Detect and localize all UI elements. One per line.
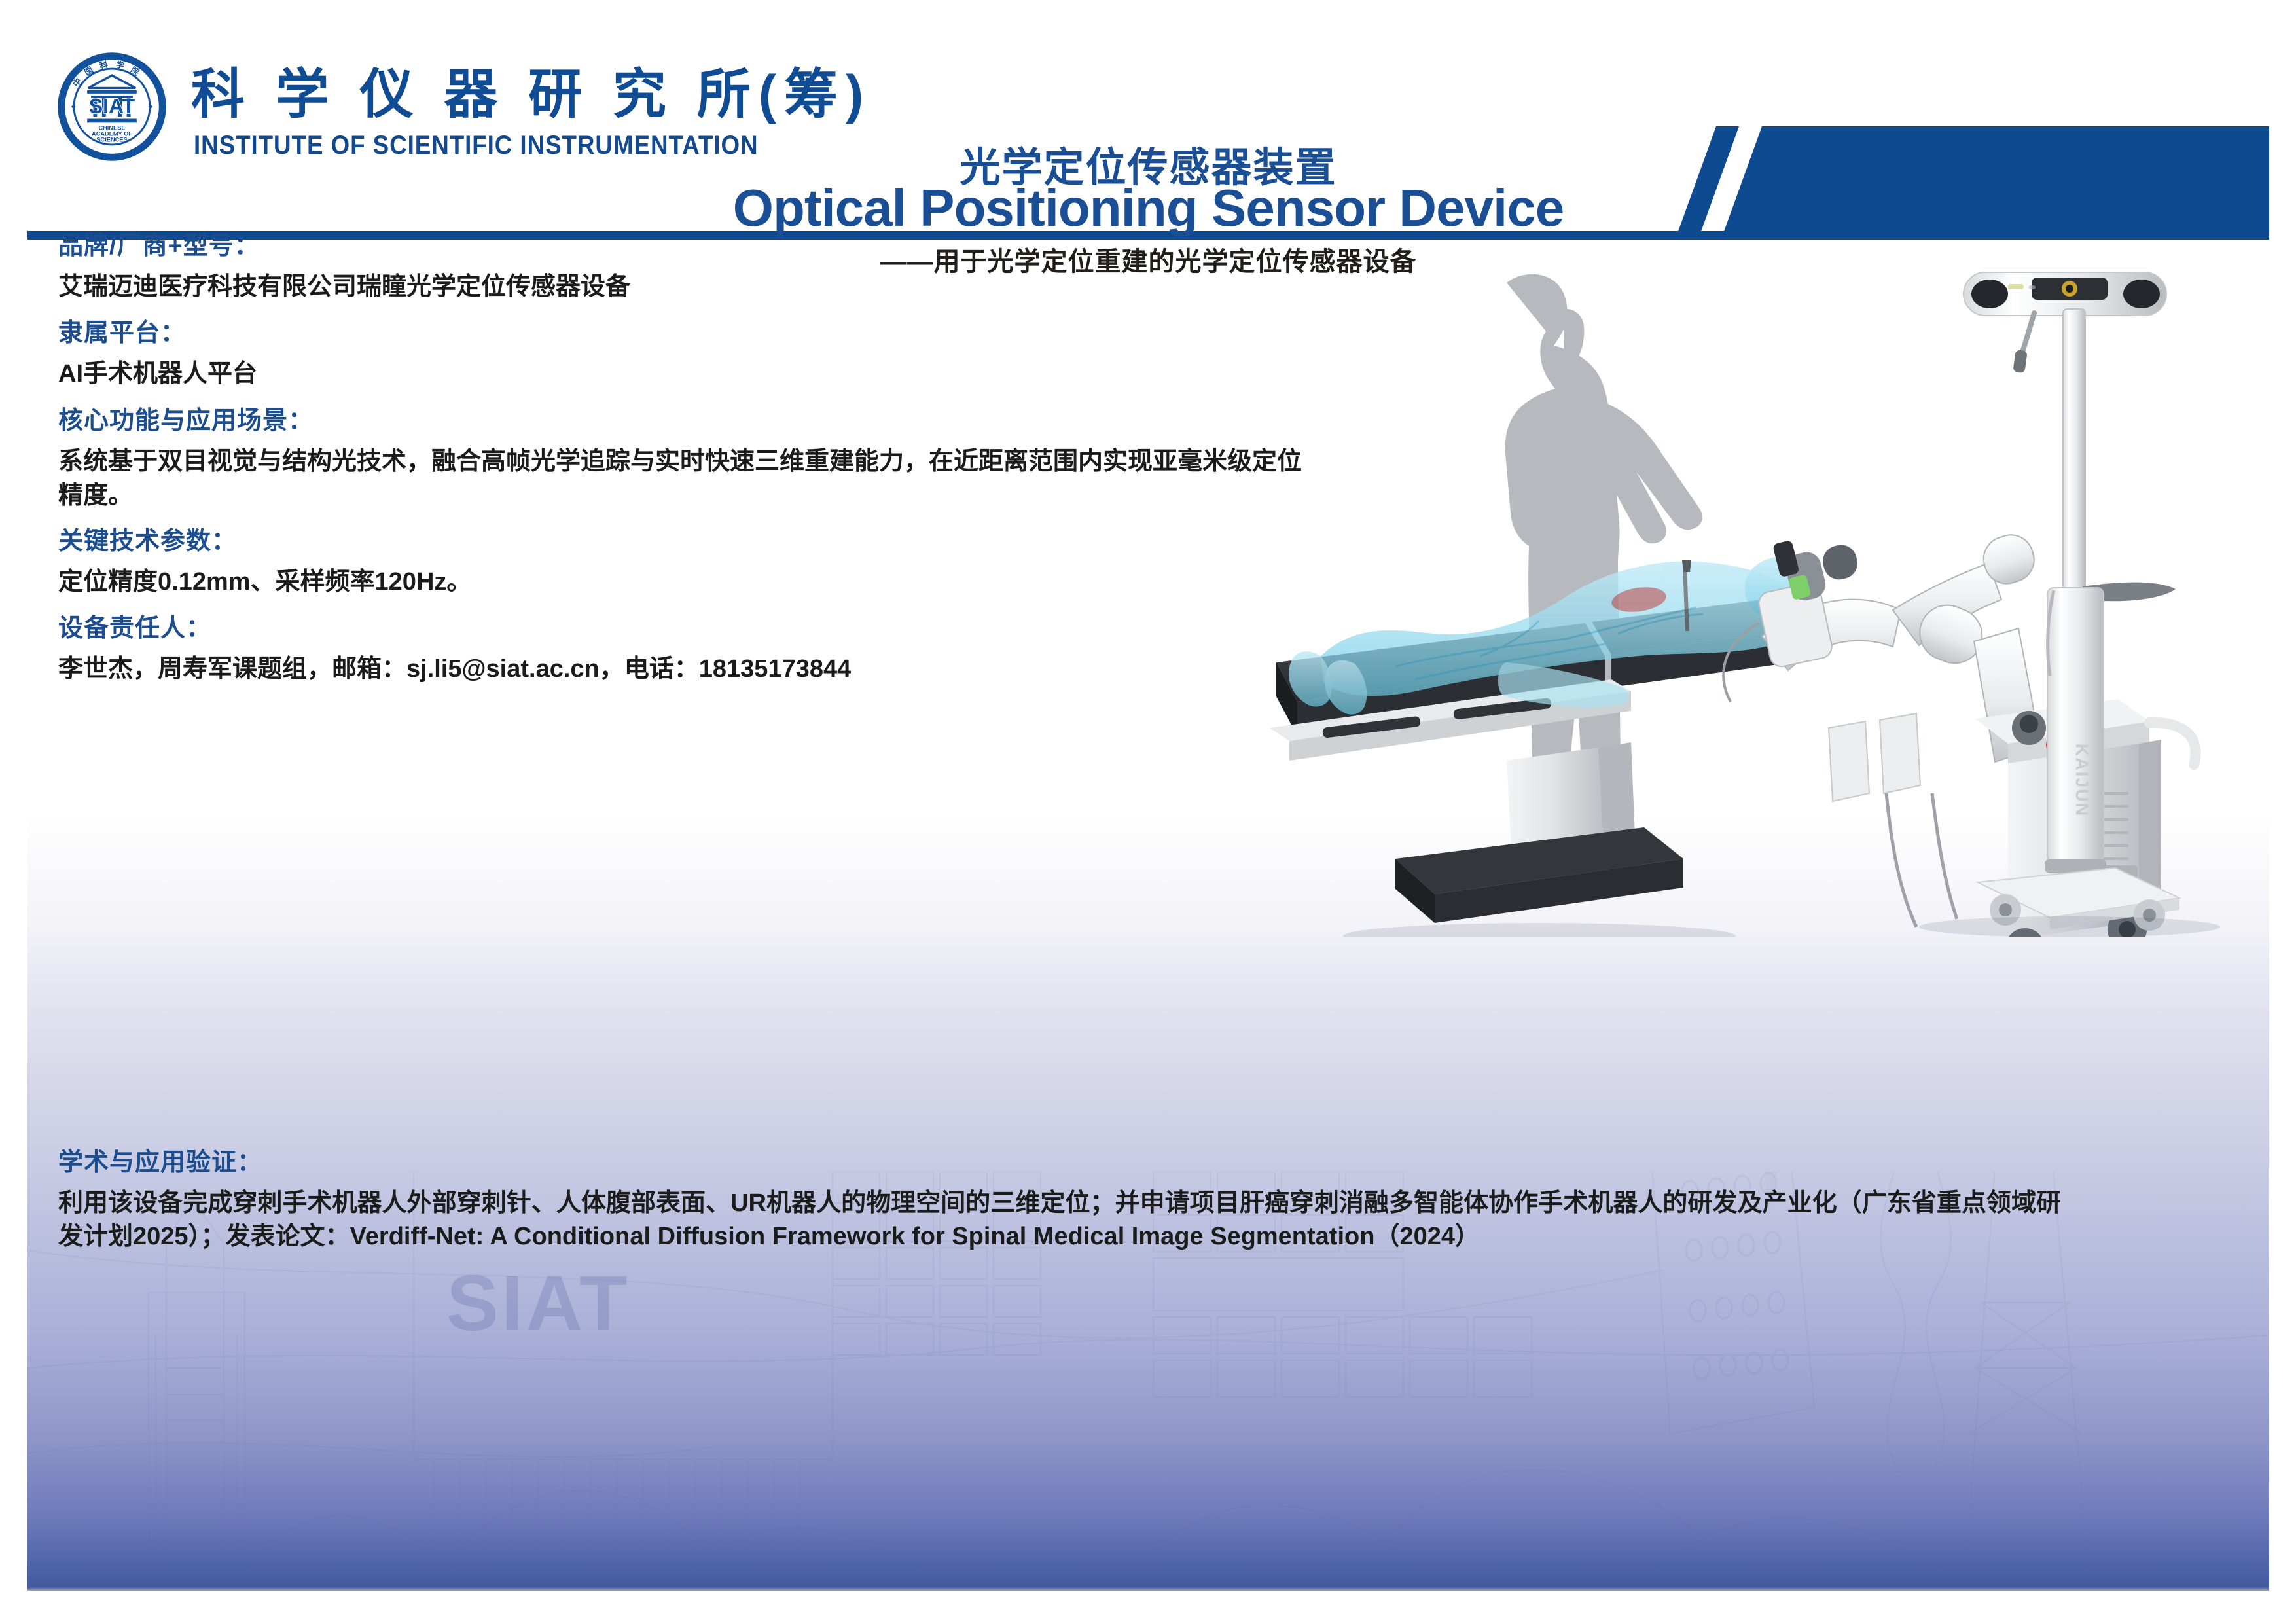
bottom-strip [27, 1587, 2269, 1591]
field-key-parameters-label: 关键技术参数： [58, 529, 1302, 554]
field-platform: 隶属平台： AI手术机器人平台 [58, 321, 1302, 391]
svg-text:SIAT: SIAT [89, 94, 135, 118]
field-key-parameters: 关键技术参数： 定位精度0.12mm、采样频率120Hz。 [58, 529, 1302, 599]
academic-validation-block: 学术与应用验证： 利用该设备完成穿刺手术机器人外部穿刺针、人体腹部表面、UR机器… [58, 1150, 2061, 1254]
field-platform-label: 隶属平台： [58, 321, 1302, 346]
watermark-siat-text: SIAT [446, 1258, 630, 1348]
field-owner-label: 设备责任人： [58, 616, 1302, 641]
field-core-function: 核心功能与应用场景： 系统基于双目视觉与结构光技术，融合高帧光学追踪与实时快速三… [58, 408, 1302, 513]
svg-text:科: 科 [99, 60, 109, 71]
svg-text:学: 学 [115, 60, 126, 71]
field-core-function-value: 系统基于双目视觉与结构光技术，融合高帧光学追踪与实时快速三维重建能力，在近距离范… [58, 444, 1302, 513]
field-platform-value: AI手术机器人平台 [58, 357, 1302, 391]
academic-label: 学术与应用验证： [58, 1150, 2061, 1175]
poster-page: SIAT 中 国 科 学 院 深 圳 先 进 技 术 [27, 37, 2269, 1591]
svg-text:KAIJUN: KAIJUN [2072, 744, 2092, 818]
academic-value: 利用该设备完成穿刺手术机器人外部穿刺针、人体腹部表面、UR机器人的物理空间的三维… [58, 1187, 2061, 1254]
field-owner: 设备责任人： 李世杰，周寿军课题组，邮箱：sj.li5@siat.ac.cn，电… [58, 616, 1302, 686]
field-key-parameters-value: 定位精度0.12mm、采样频率120Hz。 [58, 565, 1302, 599]
spec-list: 品牌/厂商+型号： 艾瑞迈迪医疗科技有限公司瑞瞳光学定位传感器设备 隶属平台： … [58, 234, 1302, 704]
field-core-function-label: 核心功能与应用场景： [58, 408, 1302, 433]
device-illustration: KAIJUN [1199, 204, 2269, 937]
institute-name-cn: 科 学 仪 器 研 究 所(筹) [191, 50, 871, 128]
field-brand-label: 品牌/厂商+型号： [58, 234, 1302, 259]
field-brand: 品牌/厂商+型号： 艾瑞迈迪医疗科技有限公司瑞瞳光学定位传感器设备 [58, 234, 1302, 304]
field-brand-value: 艾瑞迈迪医疗科技有限公司瑞瞳光学定位传感器设备 [58, 270, 1302, 304]
field-owner-value: 李世杰，周寿军课题组，邮箱：sj.li5@siat.ac.cn，电话：18135… [58, 652, 1302, 686]
